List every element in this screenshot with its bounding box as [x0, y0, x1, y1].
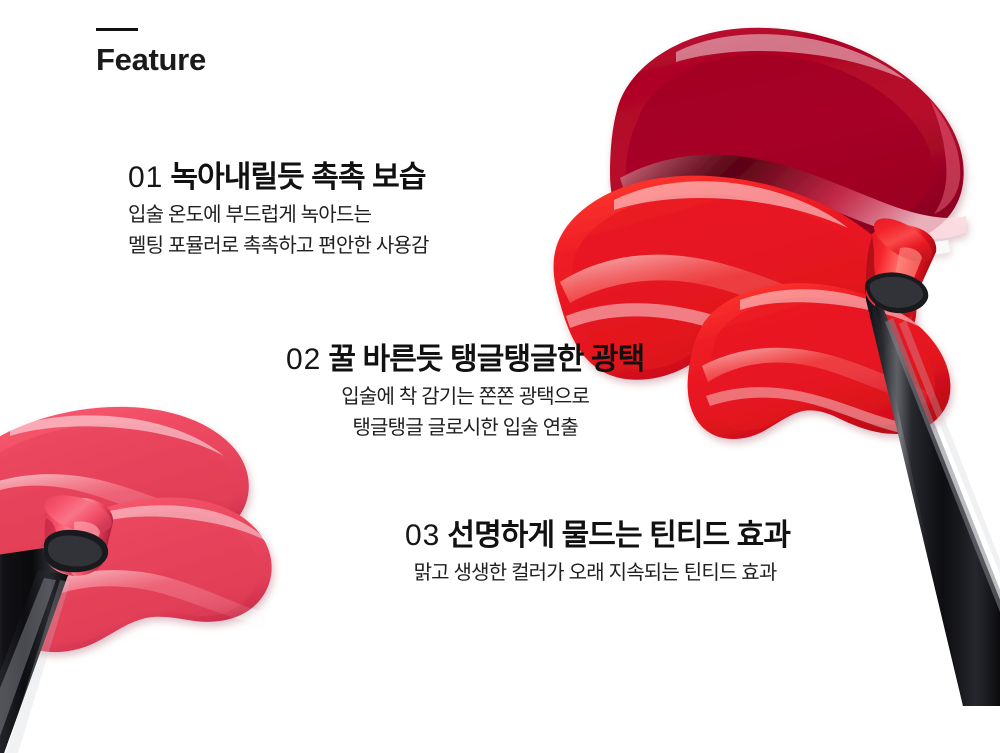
- feature-03-title: 선명하게 물드는 틴티드 효과: [447, 519, 790, 552]
- feature-item-03: 03선명하게 물드는 틴티드 효과 맑고 생생한 컬러가 오래 지속되는 틴티드…: [405, 518, 790, 589]
- feature-page: Feature 01녹아내릴듯 촉촉 보습 입술 온도에 부드럽게 녹아드는 멜…: [0, 0, 1000, 753]
- feature-02-desc-line-2: 탱글탱글 글로시한 입술 연출: [286, 413, 644, 443]
- text-content: Feature 01녹아내릴듯 촉촉 보습 입술 온도에 부드럽게 녹아드는 멜…: [0, 0, 1000, 753]
- feature-03-desc-line-1: 맑고 생생한 컬러가 오래 지속되는 틴티드 효과: [400, 558, 790, 588]
- feature-01-desc-line-1: 입술 온도에 부드럽게 녹아드는: [128, 200, 429, 230]
- feature-item-02: 02꿀 바른듯 탱글탱글한 광택 입술에 착 감기는 쫀쫀 광택으로 탱글탱글 …: [286, 342, 644, 443]
- feature-item-01: 01녹아내릴듯 촉촉 보습 입술 온도에 부드럽게 녹아드는 멜팅 포뮬러로 촉…: [128, 160, 429, 261]
- feature-02-number: 02: [286, 343, 321, 376]
- feature-02-title: 꿀 바른듯 탱글탱글한 광택: [328, 343, 644, 376]
- feature-01-desc-line-2: 멜팅 포뮬러로 촉촉하고 편안한 사용감: [128, 231, 429, 261]
- feature-01-title: 녹아내릴듯 촉촉 보습: [170, 161, 425, 194]
- feature-03-title-line: 03선명하게 물드는 틴티드 효과: [405, 518, 790, 553]
- page-title: Feature: [96, 44, 206, 75]
- feature-03-number: 03: [405, 519, 440, 552]
- page-header: Feature: [96, 28, 206, 75]
- feature-01-number: 01: [128, 161, 163, 194]
- feature-02-desc-line-1: 입술에 착 감기는 쫀쫀 광택으로: [286, 382, 644, 412]
- feature-01-title-line: 01녹아내릴듯 촉촉 보습: [128, 160, 429, 195]
- feature-02-title-line: 02꿀 바른듯 탱글탱글한 광택: [286, 342, 644, 377]
- header-rule: [96, 28, 138, 31]
